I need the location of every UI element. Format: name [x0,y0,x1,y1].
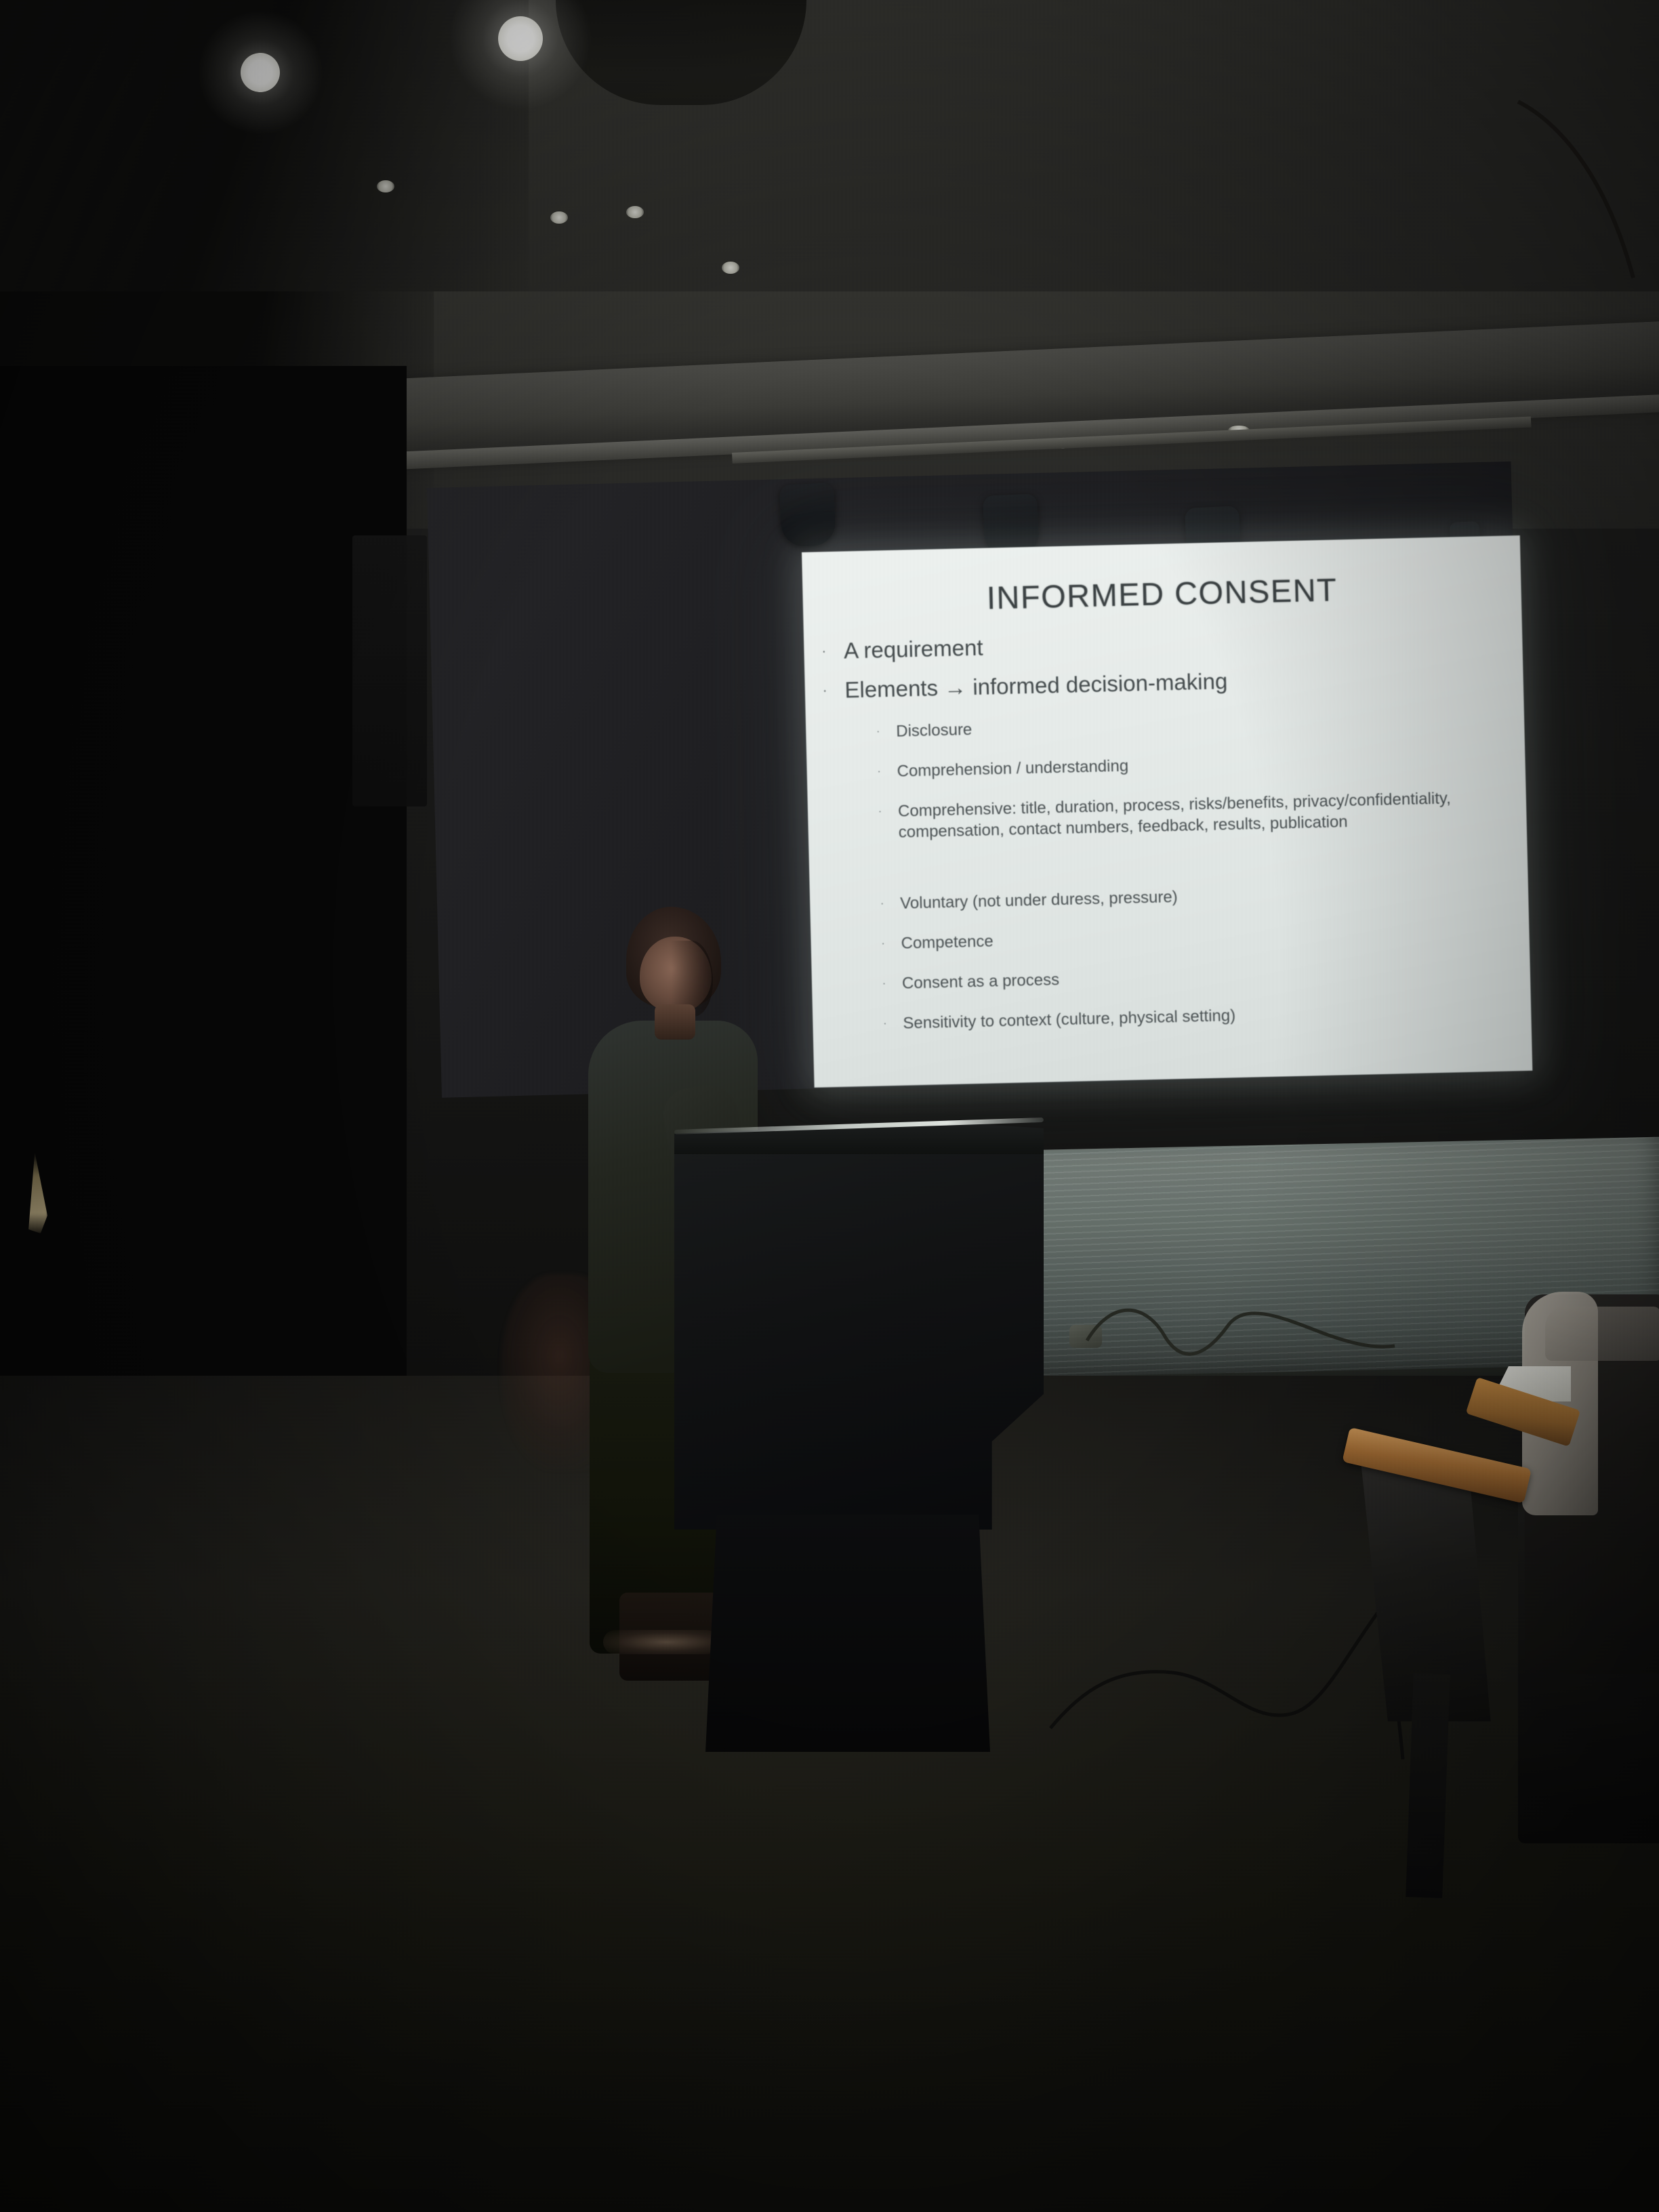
slide-bullet-l2-1: · Disclosure [876,706,1512,742]
slide-bullet-l2-6: · Consent as a process [882,958,1518,994]
wall-speaker-panel [352,535,427,806]
seat-support-leg [1406,1673,1450,1898]
bullet-glyph-icon: · [881,933,885,954]
recessed-dot-icon-1 [377,180,394,192]
slide-bullet-l2-3: · Comprehensive: title, duration, proces… [878,786,1515,843]
downlight-right-icon [498,16,543,61]
podium-base [705,1515,990,1752]
podium-body [674,1150,1044,1530]
downlight-left-icon [241,53,280,92]
slide-title: INFORMED CONSENT [802,567,1521,621]
slide-bullet-text: A requirement [844,635,983,665]
bullet-glyph-icon: · [882,973,886,994]
slide-bullet-l2-5: · Competence [881,918,1517,954]
auditorium-seat [1322,1294,1659,1904]
slide-bullet-l2-2: · Comprehension / understanding [877,746,1513,782]
slide-bullet-text: Disclosure [896,706,1512,742]
lecture-hall-photo: INFORMED CONSENT · A requirement · Eleme… [0,0,1659,2212]
slide-bullet-text: Elements → informed decision-making [844,668,1228,703]
slide-bullet-l1-2: · Elements → informed decision-making [822,662,1503,705]
slide-bullet-text: Sensitivity to context (culture, physica… [903,998,1519,1034]
ceiling-antenna-rod-icon [1511,75,1659,298]
left-wall-dark [0,366,407,1450]
slide-bullet-text: Comprehension / understanding [897,746,1513,782]
slide-bullet-text: Consent as a process [902,958,1518,994]
recessed-dot-icon-4 [722,262,739,274]
bullet-glyph-icon: · [821,638,827,665]
bullet-glyph-icon: · [877,761,881,782]
slide-bullet-l1-1: · A requirement [821,623,1502,665]
seat-back-rim-upper [1545,1307,1659,1361]
track-light-head-1-icon [779,483,836,548]
bullet-glyph-icon: · [876,721,880,742]
bullet-glyph-icon: · [880,893,884,914]
bullet-glyph-icon: · [878,801,882,843]
recessed-dot-icon-3 [626,206,644,218]
slide-bullet-text: Competence [901,918,1517,954]
slide-bullet-text: Comprehensive: title, duration, process,… [898,786,1515,843]
slide-bullet-text: Voluntary (not under duress, pressure) [900,878,1516,914]
bullet-glyph-icon: · [883,1013,887,1034]
bullet-glyph-icon: · [822,678,827,704]
presenter-neck [655,1004,695,1040]
slide-bullet-l2-7: · Sensitivity to context (culture, physi… [883,998,1519,1034]
lectern-podium [674,1122,1044,1752]
recessed-dot-icon-2 [550,211,568,224]
slide-bullet-l2-4: · Voluntary (not under duress, pressure) [880,878,1516,914]
projected-slide: INFORMED CONSENT · A requirement · Eleme… [802,535,1532,1088]
